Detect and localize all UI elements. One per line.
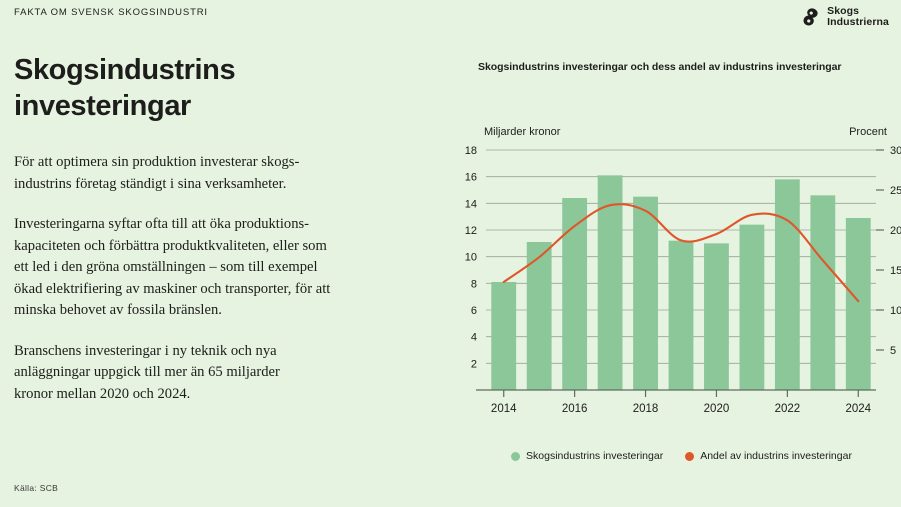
infographic-page: FAKTA OM SVENSK SKOGSINDUSTRI Skogs Indu… [0, 0, 901, 507]
page-title: Skogsindustrins investeringar [14, 52, 414, 124]
svg-text:10: 10 [890, 305, 901, 317]
svg-text:4: 4 [471, 332, 477, 344]
left-axis-caption: Miljarder kronor [484, 126, 560, 138]
legend-item-line: Andel av industrins investeringar [685, 450, 852, 462]
svg-text:20: 20 [890, 225, 901, 237]
svg-text:2016: 2016 [562, 403, 588, 415]
svg-text:30: 30 [890, 145, 901, 157]
svg-text:2014: 2014 [491, 403, 517, 415]
svg-text:15: 15 [890, 265, 901, 277]
source-note: Källa: SCB [14, 483, 58, 493]
svg-text:18: 18 [465, 145, 477, 157]
legend-item-bars: Skogsindustrins investeringar [511, 450, 663, 462]
svg-text:10: 10 [465, 252, 477, 264]
legend-dot-bars-icon [511, 452, 520, 461]
kicker-label: FAKTA OM SVENSK SKOGSINDUSTRI [14, 7, 208, 18]
right-axis-caption: Procent [849, 126, 887, 138]
legend-label-line: Andel av industrins investeringar [700, 450, 852, 462]
svg-text:2022: 2022 [775, 403, 801, 415]
paragraph-3: Branschens investeringar i ny teknik och… [14, 341, 414, 406]
svg-text:12: 12 [465, 225, 477, 237]
body-copy: För att optimera sin produktion invester… [14, 152, 414, 405]
svg-text:2018: 2018 [633, 403, 659, 415]
legend-dot-line-icon [685, 452, 694, 461]
svg-text:6: 6 [471, 305, 477, 317]
chart-legend: Skogsindustrins investeringar Andel av i… [462, 450, 901, 462]
svg-text:2024: 2024 [845, 403, 871, 415]
chart-title: Skogsindustrins investeringar och dess a… [478, 61, 841, 73]
combo-chart-svg: 2468101214161851015202530201420162018202… [486, 150, 876, 420]
svg-text:8: 8 [471, 278, 477, 290]
legend-label-bars: Skogsindustrins investeringar [526, 450, 663, 462]
left-column: Skogsindustrins investeringar För att op… [14, 52, 414, 405]
svg-text:14: 14 [465, 198, 477, 210]
svg-text:2020: 2020 [704, 403, 730, 415]
plot-area: 2468101214161851015202530201420162018202… [486, 150, 876, 420]
paragraph-2: Investeringarna syftar ofta till att öka… [14, 214, 414, 322]
svg-text:5: 5 [890, 345, 896, 357]
svg-text:2: 2 [471, 358, 477, 370]
paragraph-1: För att optimera sin produktion invester… [14, 152, 414, 195]
chart-panel: Skogsindustrins investeringar och dess a… [462, 0, 901, 507]
svg-text:25: 25 [890, 185, 901, 197]
svg-text:16: 16 [465, 172, 477, 184]
